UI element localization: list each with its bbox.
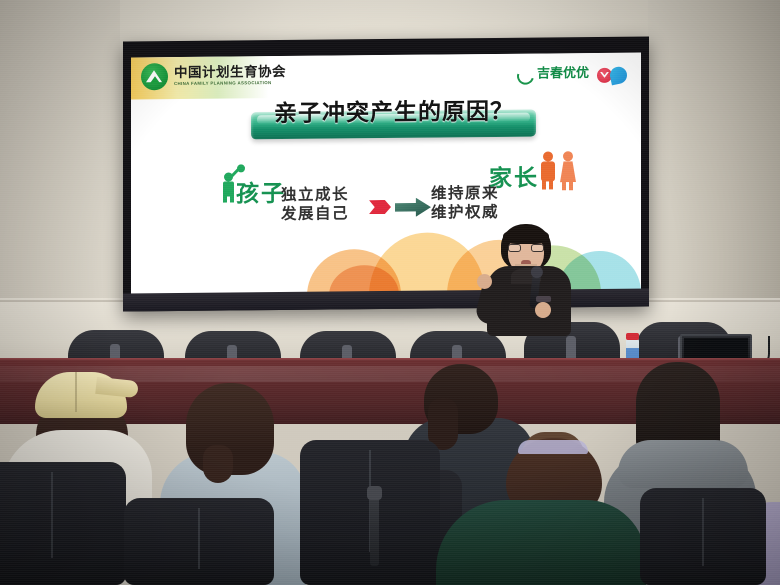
water-bottle-cap — [626, 333, 639, 340]
green-triangle-circle-icon — [141, 63, 168, 90]
attendee-cap-seam — [75, 372, 77, 412]
attendee-ponytail-tail — [203, 445, 233, 483]
cfpa-logo-text: 中国计划生育协会 CHINA FAMILY PLANNING ASSOCIATI… — [174, 66, 286, 87]
partner-logo: 吉春优优 — [517, 62, 589, 89]
child-line-2: 发展自己 — [281, 204, 349, 224]
lecture-hall-scene: 中国计划生育协会 CHINA FAMILY PLANNING ASSOCIATI… — [0, 0, 780, 585]
partner-name-cn: 吉春优优 — [537, 66, 589, 81]
partner-name-sub — [537, 83, 589, 88]
wall-right-panel — [648, 0, 780, 310]
red-heart-blue-leaf-icon — [597, 66, 627, 83]
foreground-chair[interactable] — [640, 488, 766, 585]
child-label: 孩子 — [236, 174, 286, 208]
cfpa-name-cn: 中国计划生育协会 — [174, 66, 286, 81]
wall-left-panel — [0, 0, 120, 300]
child-line-1: 独立成长 — [281, 185, 349, 205]
conflict-arrows-icon — [369, 197, 431, 220]
attendee-green-coat — [436, 500, 646, 585]
two-parents-icon — [539, 149, 585, 189]
partner-logos: 吉春优优 — [517, 62, 627, 89]
parent-line-2: 维护权威 — [431, 203, 499, 223]
presenter — [473, 224, 583, 334]
attendee-hair-band — [518, 440, 588, 454]
green-swoosh-icon — [514, 64, 537, 87]
glasses-icon — [508, 244, 544, 252]
cfpa-name-en: CHINA FAMILY PLANNING ASSOCIATION — [174, 81, 286, 86]
mic-stand[interactable] — [370, 496, 379, 566]
foreground-chair[interactable] — [124, 498, 274, 585]
parent-label: 家长 — [489, 159, 539, 193]
slide-title: 亲子冲突产生的原因？ — [249, 92, 539, 129]
attendee-hoodie-hood — [618, 440, 748, 488]
foreground-chair[interactable] — [0, 462, 126, 585]
cfpa-logo: 中国计划生育协会 CHINA FAMILY PLANNING ASSOCIATI… — [141, 62, 286, 90]
child-description: 独立成长 发展自己 — [281, 185, 349, 223]
